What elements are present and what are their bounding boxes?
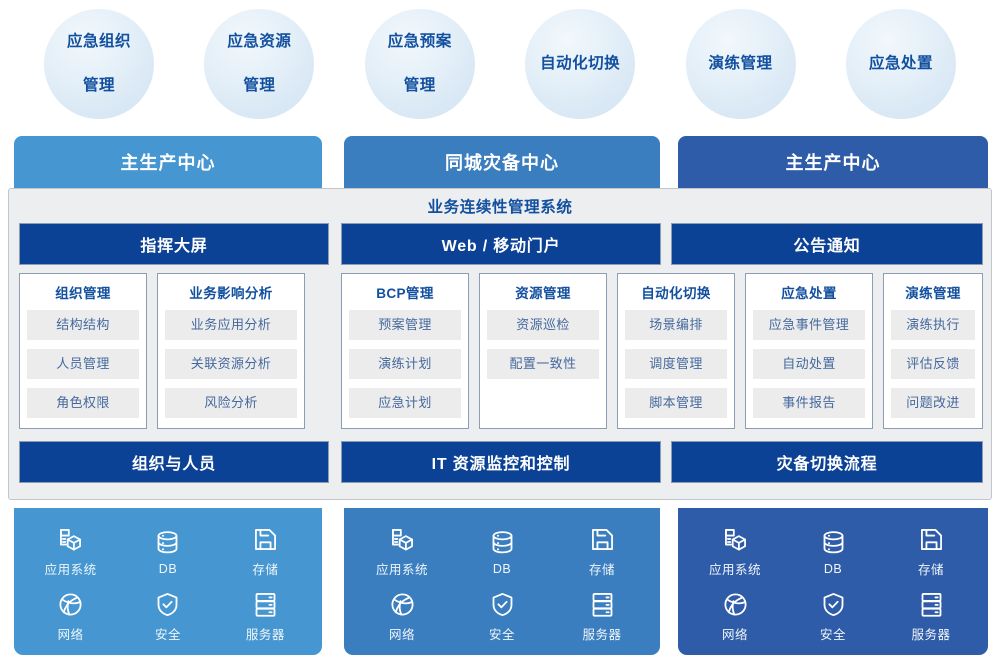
module-card-title: 演练管理 [891,282,975,302]
module-card-resource-management[interactable]: 资源管理 资源巡检 配置一致性 [479,273,607,429]
infra-item-server[interactable]: 服务器 [217,587,314,648]
module-card-automation-switch[interactable]: 自动化切换 场景编排 调度管理 脚本管理 [617,273,735,429]
infra-item-label: 网络 [389,624,415,643]
infra-item-network[interactable]: 网络 [686,587,784,648]
portal-band-announcement[interactable]: 公告通知 [671,223,983,265]
bubble-label-line1: 应急预案 [377,31,463,53]
bubble-label-line1: 演练管理 [698,53,784,75]
center-header-metro-dr[interactable]: 同城灾备中心 [344,136,660,188]
infra-item-network[interactable]: 网络 [22,587,119,648]
infra-item-application-system[interactable]: 应用系统 [352,522,452,583]
database-icon [820,529,847,556]
server-rack-icon [252,591,279,618]
domain-band-org-people[interactable]: 组织与人员 [19,441,329,483]
infra-item-storage[interactable]: 存储 [882,522,980,583]
center-header-primary-production-2[interactable]: 主生产中心 [678,136,988,188]
infra-item-storage[interactable]: 存储 [217,522,314,583]
domain-band-label: 灾备切换流程 [777,450,878,474]
server-rack-icon [918,591,945,618]
infrastructure-panel-primary-production: 应用系统 DB 存储 [14,508,322,655]
module-card-org-management[interactable]: 组织管理 结构结构 人员管理 角色权限 [19,273,147,429]
bubble-label-line1: 自动化切换 [537,53,623,75]
infrastructure-panel-primary-production-2: 应用系统 DB 存储 [678,508,988,655]
database-icon [489,529,516,556]
domain-band-label: 组织与人员 [132,450,216,474]
network-globe-icon [389,591,416,618]
infra-item-server[interactable]: 服务器 [882,587,980,648]
application-system-icon [57,526,84,553]
infra-item-label: 存储 [252,559,278,578]
portal-band-row: 指挥大屏 Web / 移动门户 公告通知 [19,223,981,265]
module-card-title: 组织管理 [27,282,139,302]
module-card-title: BCP管理 [349,282,461,302]
infra-item-label: 应用系统 [45,559,97,578]
infra-item-application-system[interactable]: 应用系统 [686,522,784,583]
center-header-label: 主生产中心 [786,149,881,175]
infra-item-server[interactable]: 服务器 [552,587,652,648]
storage-icon [589,526,616,553]
bubble-emergency-plan[interactable]: 应急预案 管理 [365,9,475,119]
module-card-business-impact-analysis[interactable]: 业务影响分析 业务应用分析 关联资源分析 风险分析 [157,273,305,429]
infra-item-label: 网络 [58,624,84,643]
bubble-label-line1: 应急处置 [858,53,944,75]
module-item[interactable]: 自动处置 [753,349,865,379]
infra-item-db[interactable]: DB [784,522,882,583]
bcm-system-frame: 业务连续性管理系统 指挥大屏 Web / 移动门户 公告通知 组织管理 结构结构… [8,188,992,500]
module-card-title: 自动化切换 [625,282,727,302]
module-card-title: 应急处置 [753,282,865,302]
infrastructure-row: 应用系统 DB 存储 [0,508,1000,663]
database-icon [154,529,181,556]
infra-item-security[interactable]: 安全 [784,587,882,648]
module-item[interactable]: 关联资源分析 [165,349,297,379]
domain-band-label: IT 资源监控和控制 [432,450,571,474]
infra-item-label: 应用系统 [376,559,428,578]
module-card-title: 业务影响分析 [165,282,297,302]
bubble-emergency-response[interactable]: 应急处置 [846,9,956,119]
domain-band-row: 组织与人员 IT 资源监控和控制 灾备切换流程 [19,441,981,483]
application-system-icon [722,526,749,553]
infra-item-security[interactable]: 安全 [452,587,552,648]
infra-item-label: 存储 [589,559,615,578]
infra-item-db[interactable]: DB [119,522,216,583]
module-item[interactable]: 问题改进 [891,388,975,418]
bubble-label-line1: 应急资源 [216,31,302,53]
infra-item-application-system[interactable]: 应用系统 [22,522,119,583]
module-item[interactable]: 调度管理 [625,349,727,379]
module-item[interactable]: 角色权限 [27,388,139,418]
infra-item-label: 安全 [820,624,846,643]
module-item[interactable]: 风险分析 [165,388,297,418]
center-header-label: 同城灾备中心 [445,149,559,175]
bubble-emergency-resource[interactable]: 应急资源 管理 [204,9,314,119]
infra-item-label: 网络 [722,624,748,643]
server-rack-icon [589,591,616,618]
module-item[interactable]: 评估反馈 [891,349,975,379]
module-item[interactable]: 脚本管理 [625,388,727,418]
infra-item-storage[interactable]: 存储 [552,522,652,583]
module-card-emergency-response[interactable]: 应急处置 应急事件管理 自动处置 事件报告 [745,273,873,429]
security-shield-icon [489,591,516,618]
module-card-drill-management[interactable]: 演练管理 演练执行 评估反馈 问题改进 [883,273,983,429]
application-system-icon [389,526,416,553]
module-card-title: 资源管理 [487,282,599,302]
data-center-header-row: 主生产中心 同城灾备中心 主生产中心 [0,136,1000,192]
portal-band-command-screen[interactable]: 指挥大屏 [19,223,329,265]
infra-item-label: 服务器 [911,624,950,643]
bubble-emergency-org[interactable]: 应急组织 管理 [44,9,154,119]
bubble-label-line2: 管理 [216,75,302,97]
module-item[interactable]: 结构结构 [27,310,139,340]
frame-title: 业务连续性管理系统 [9,189,991,223]
capability-bubble-row: 应急组织 管理 应急资源 管理 应急预案 管理 自动化切换 演练管理 应急处置 [0,0,1000,128]
portal-band-label: 指挥大屏 [140,232,207,256]
bubble-automation-switch[interactable]: 自动化切换 [525,9,635,119]
module-card-row: 组织管理 结构结构 人员管理 角色权限 业务影响分析 业务应用分析 关联资源分析… [19,273,981,433]
module-item[interactable]: 配置一致性 [487,349,599,379]
infra-item-security[interactable]: 安全 [119,587,216,648]
portal-band-label: 公告通知 [793,232,860,256]
module-item[interactable]: 应急计划 [349,388,461,418]
storage-icon [252,526,279,553]
network-globe-icon [722,591,749,618]
domain-band-dr-switch-process[interactable]: 灾备切换流程 [671,441,983,483]
infra-item-network[interactable]: 网络 [352,587,452,648]
module-item[interactable]: 人员管理 [27,349,139,379]
security-shield-icon [820,591,847,618]
infra-item-label: 服务器 [246,624,285,643]
module-item[interactable]: 应急事件管理 [753,310,865,340]
portal-band-label: Web / 移动门户 [442,232,561,256]
infra-item-label: 安全 [489,624,515,643]
module-item[interactable]: 预案管理 [349,310,461,340]
infra-item-label: 存储 [918,559,944,578]
module-item[interactable]: 事件报告 [753,388,865,418]
infra-item-db[interactable]: DB [452,522,552,583]
module-item[interactable]: 场景编排 [625,310,727,340]
infra-item-label: 服务器 [582,624,621,643]
network-globe-icon [57,591,84,618]
infra-item-label: 应用系统 [709,559,761,578]
storage-icon [918,526,945,553]
portal-band-web-mobile[interactable]: Web / 移动门户 [341,223,661,265]
bubble-label-line1: 应急组织 [56,31,142,53]
bubble-drill-management[interactable]: 演练管理 [686,9,796,119]
center-header-label: 主生产中心 [121,149,216,175]
infra-item-label: 安全 [155,624,181,643]
module-item[interactable]: 资源巡检 [487,310,599,340]
bubble-label-line2: 管理 [56,75,142,97]
center-header-primary-production[interactable]: 主生产中心 [14,136,322,188]
module-card-bcp-management[interactable]: BCP管理 预案管理 演练计划 应急计划 [341,273,469,429]
infra-item-label: DB [824,562,842,576]
module-item[interactable]: 业务应用分析 [165,310,297,340]
module-item[interactable]: 演练计划 [349,349,461,379]
security-shield-icon [154,591,181,618]
bubble-label-line2: 管理 [377,75,463,97]
module-item[interactable]: 演练执行 [891,310,975,340]
infra-item-label: DB [493,562,511,576]
infrastructure-panel-metro-dr: 应用系统 DB 存储 [344,508,660,655]
domain-band-it-resource-monitoring[interactable]: IT 资源监控和控制 [341,441,661,483]
infra-item-label: DB [159,562,177,576]
